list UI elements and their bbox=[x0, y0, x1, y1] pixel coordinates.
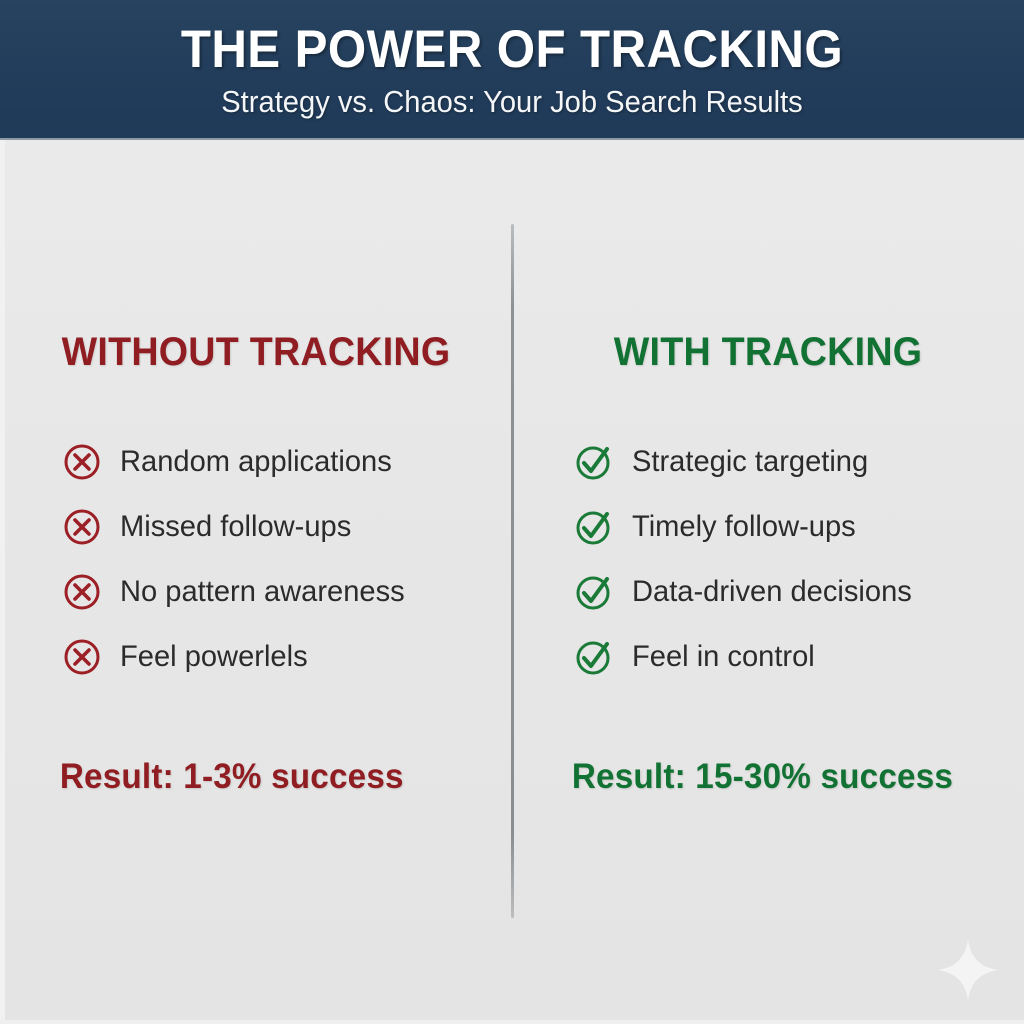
list-item: Data-driven decisions bbox=[512, 559, 1024, 624]
circle-x-icon bbox=[63, 508, 101, 546]
list-item-label: Data-driven decisions bbox=[632, 577, 912, 607]
list-item-label: Timely follow-ups bbox=[632, 512, 856, 542]
list-item-label: No pattern awareness bbox=[120, 577, 405, 607]
circle-x-icon bbox=[63, 443, 101, 481]
list-item: No pattern awareness bbox=[0, 559, 512, 624]
column-heading-without-tracking: WITHOUT TRACKING bbox=[15, 140, 496, 375]
list-item-label: Strategic targeting bbox=[632, 447, 868, 477]
circle-x-icon bbox=[63, 573, 101, 611]
column-divider bbox=[511, 224, 514, 918]
list-item: Feel powerlels bbox=[0, 624, 512, 689]
list-item-label: Random applications bbox=[120, 447, 392, 477]
result-with-tracking: Result: 15-30% success bbox=[512, 689, 998, 797]
sparkle-icon bbox=[934, 936, 1002, 1004]
list-without-tracking: Random applications Missed follow-ups bbox=[0, 375, 512, 689]
circle-x-icon bbox=[63, 638, 101, 676]
list-item-label: Feel powerlels bbox=[120, 642, 308, 672]
column-heading-with-tracking: WITH TRACKING bbox=[527, 140, 1008, 375]
list-item: Random applications bbox=[0, 429, 512, 494]
list-item-label: Feel in control bbox=[632, 642, 815, 672]
column-with-tracking: WITH TRACKING Strategic targeting bbox=[512, 140, 1024, 1024]
circle-check-icon bbox=[575, 638, 613, 676]
result-without-tracking: Result: 1-3% success bbox=[0, 689, 486, 797]
page-subtitle: Strategy vs. Chaos: Your Job Search Resu… bbox=[31, 78, 994, 119]
list-item-label: Missed follow-ups bbox=[120, 512, 351, 542]
list-item: Missed follow-ups bbox=[0, 494, 512, 559]
page-title: THE POWER OF TRACKING bbox=[36, 0, 988, 78]
circle-check-icon bbox=[575, 573, 613, 611]
list-item: Strategic targeting bbox=[512, 429, 1024, 494]
list-item: Feel in control bbox=[512, 624, 1024, 689]
list-with-tracking: Strategic targeting Timely follow-ups bbox=[512, 375, 1024, 689]
circle-check-icon bbox=[575, 443, 613, 481]
circle-check-icon bbox=[575, 508, 613, 546]
infographic-canvas: THE POWER OF TRACKING Strategy vs. Chaos… bbox=[0, 0, 1024, 1024]
header-banner: THE POWER OF TRACKING Strategy vs. Chaos… bbox=[0, 0, 1024, 140]
column-without-tracking: WITHOUT TRACKING Random applications bbox=[0, 140, 512, 1024]
bottom-edge-strip bbox=[0, 1020, 1024, 1024]
left-edge-strip bbox=[0, 140, 5, 1024]
list-item: Timely follow-ups bbox=[512, 494, 1024, 559]
